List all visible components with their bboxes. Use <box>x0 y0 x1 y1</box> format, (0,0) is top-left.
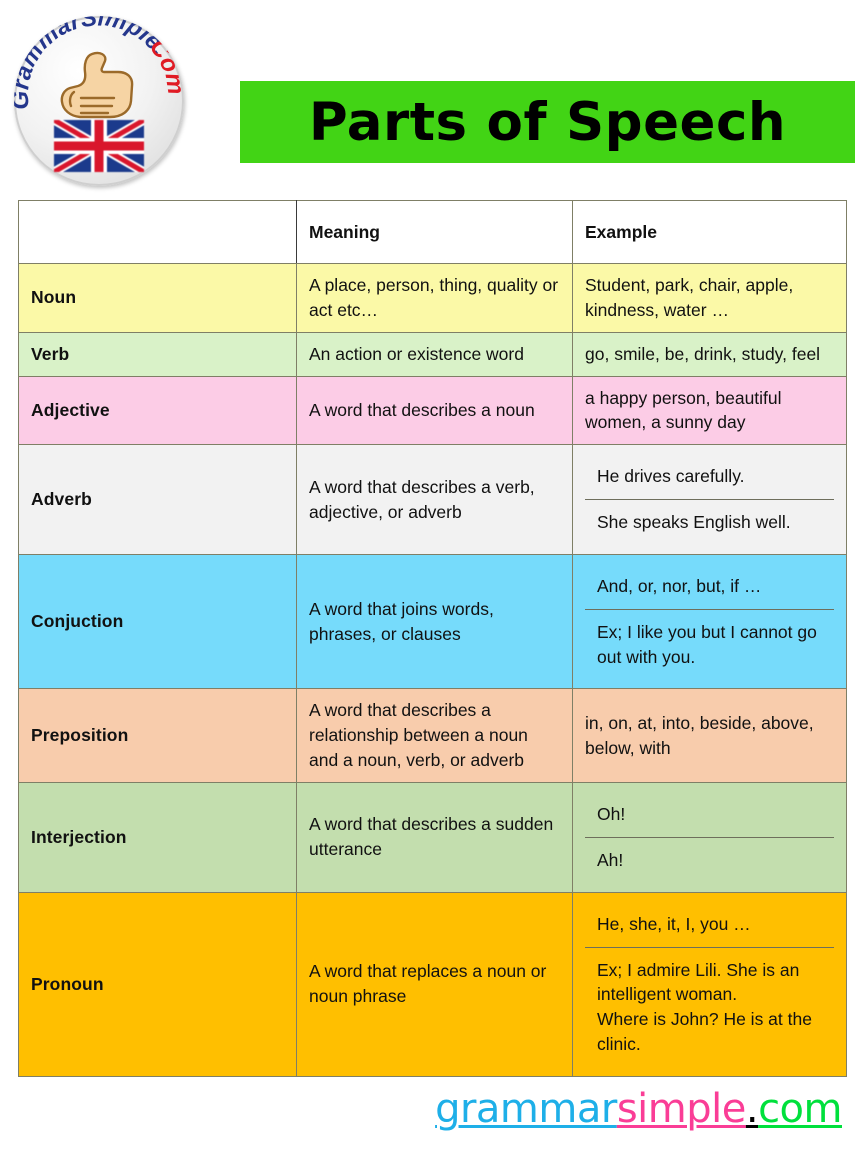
table-row: NounA place, person, thing, quality or a… <box>19 264 847 333</box>
example-sub-cell: She speaks English well. <box>585 499 834 545</box>
part-of-speech-example: in, on, at, into, beside, above, below, … <box>573 689 847 783</box>
part-of-speech-meaning: A place, person, thing, quality or act e… <box>297 264 573 333</box>
table-row: AdjectiveA word that describes a nouna h… <box>19 376 847 445</box>
part-of-speech-example: And, or, nor, but, if …Ex; I like you bu… <box>573 554 847 689</box>
page-title: Parts of Speech <box>309 96 786 149</box>
wordmark-part-com: com <box>758 1086 842 1132</box>
part-of-speech-example: Student, park, chair, apple, kindness, w… <box>573 264 847 333</box>
part-of-speech-meaning: A word that describes a noun <box>297 376 573 445</box>
part-of-speech-meaning: A word that describes a verb, adjective,… <box>297 445 573 555</box>
example-sub-cell: Ex; I admire Lili. She is an intelligent… <box>585 947 834 1067</box>
table-row: VerbAn action or existence wordgo, smile… <box>19 332 847 376</box>
part-of-speech-example: Oh!Ah! <box>573 782 847 892</box>
part-of-speech-name: Pronoun <box>19 892 297 1076</box>
part-of-speech-example: He, she, it, I, you …Ex; I admire Lili. … <box>573 892 847 1076</box>
site-url-wordmark[interactable]: grammarsimple.com <box>0 1086 842 1132</box>
part-of-speech-name: Conjuction <box>19 554 297 689</box>
part-of-speech-name: Adverb <box>19 445 297 555</box>
example-sub-cell: He, she, it, I, you … <box>585 902 834 947</box>
part-of-speech-meaning: A word that joins words, phrases, or cla… <box>297 554 573 689</box>
part-of-speech-meaning: An action or existence word <box>297 332 573 376</box>
part-of-speech-name: Interjection <box>19 782 297 892</box>
page-header: GrammarSimple. Com Parts of Speech <box>0 0 864 195</box>
parts-of-speech-table: MeaningExampleNounA place, person, thing… <box>18 200 847 1077</box>
part-of-speech-name: Adjective <box>19 376 297 445</box>
part-of-speech-name: Verb <box>19 332 297 376</box>
parts-of-speech-table-wrapper: MeaningExampleNounA place, person, thing… <box>18 200 846 1077</box>
part-of-speech-meaning: A word that describes a relationship bet… <box>297 689 573 783</box>
example-sub-cell: And, or, nor, but, if … <box>585 564 834 609</box>
column-header-blank <box>19 201 297 264</box>
uk-flag-icon <box>54 120 144 172</box>
table-row: PronounA word that replaces a noun or no… <box>19 892 847 1076</box>
wordmark-part-dot: . <box>746 1086 758 1132</box>
example-sub-cell: Ex; I like you but I cannot go out with … <box>585 609 834 680</box>
table-row: AdverbA word that describes a verb, adje… <box>19 445 847 555</box>
wordmark-part-simple: simple <box>617 1086 746 1132</box>
example-sub-cell: He drives carefully. <box>585 454 834 499</box>
example-sub-cell: Oh! <box>585 792 834 837</box>
part-of-speech-example: go, smile, be, drink, study, feel <box>573 332 847 376</box>
example-sub-cell: Ah! <box>585 837 834 883</box>
column-header-meaning: Meaning <box>297 201 573 264</box>
table-row: PrepositionA word that describes a relat… <box>19 689 847 783</box>
part-of-speech-name: Preposition <box>19 689 297 783</box>
part-of-speech-name: Noun <box>19 264 297 333</box>
table-header-row: MeaningExample <box>19 201 847 264</box>
part-of-speech-meaning: A word that replaces a noun or noun phra… <box>297 892 573 1076</box>
thumbs-up-icon <box>48 46 148 126</box>
footer: grammarsimple.com <box>0 1086 864 1132</box>
wordmark-part-grammar: grammar <box>435 1086 617 1132</box>
part-of-speech-example: He drives carefully.She speaks English w… <box>573 445 847 555</box>
title-banner: Parts of Speech <box>240 81 855 163</box>
part-of-speech-example: a happy person, beautiful women, a sunny… <box>573 376 847 445</box>
part-of-speech-meaning: A word that describes a sudden utterance <box>297 782 573 892</box>
table-row: ConjuctionA word that joins words, phras… <box>19 554 847 689</box>
table-row: InterjectionA word that describes a sudd… <box>19 782 847 892</box>
column-header-example: Example <box>573 201 847 264</box>
site-logo-badge: GrammarSimple. Com <box>14 16 184 186</box>
